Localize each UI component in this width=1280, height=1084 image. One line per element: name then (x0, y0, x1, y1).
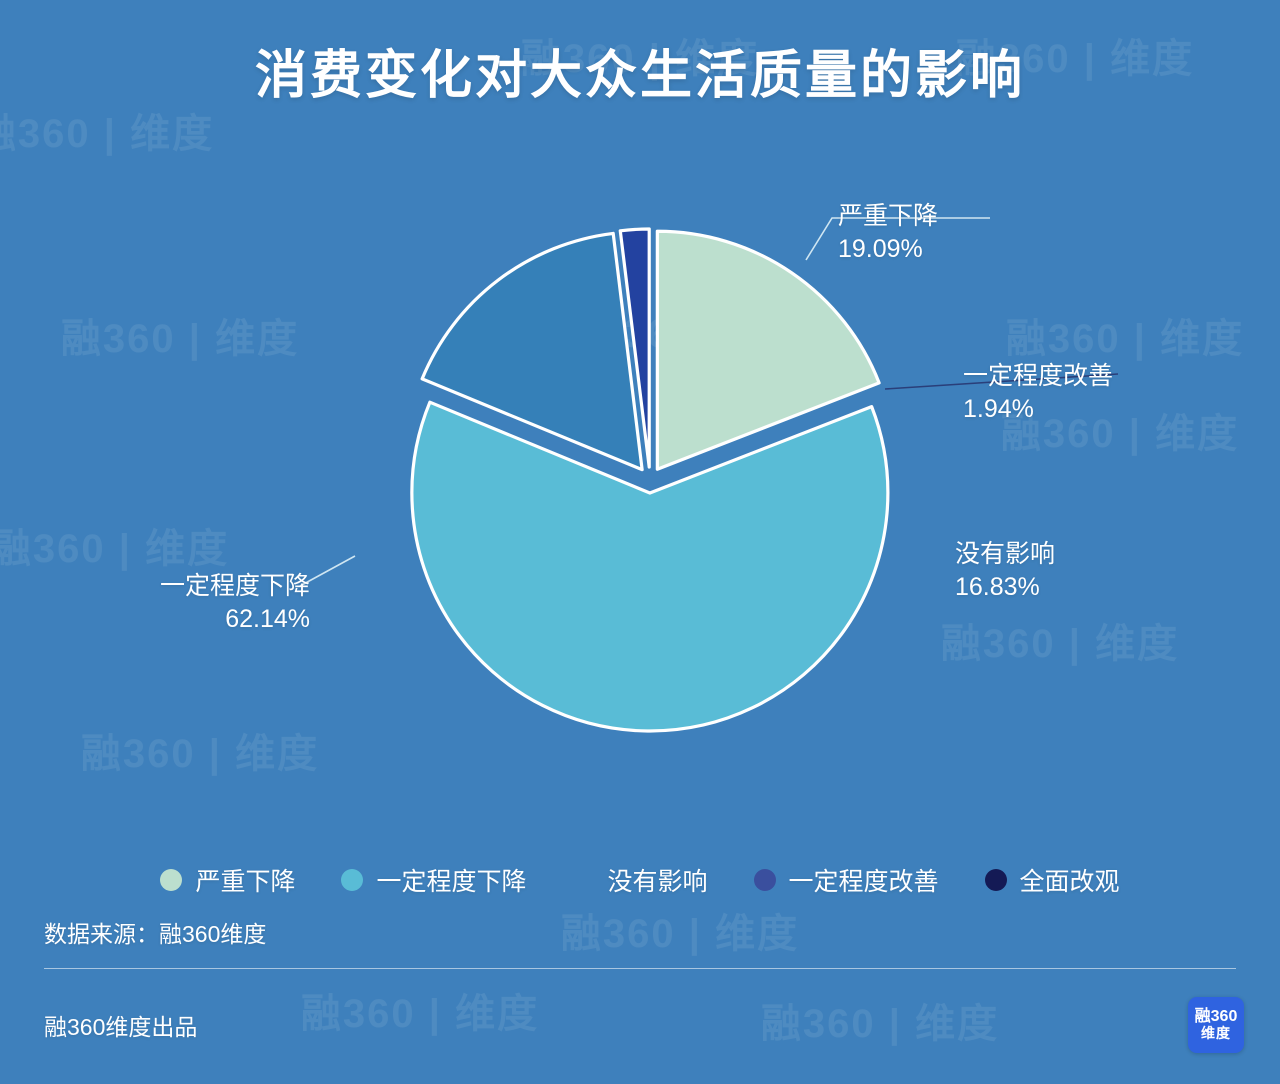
legend-color-dot (572, 869, 594, 891)
legend-color-dot (985, 869, 1007, 891)
legend-color-dot (160, 869, 182, 891)
pie-slice-group (412, 229, 888, 731)
chart-legend: 严重下降一定程度下降没有影响一定程度改善全面改观 (0, 852, 1280, 908)
slice-label-value: 19.09% (838, 233, 938, 266)
legend-item-全面改观[interactable]: 全面改观 (985, 862, 1120, 898)
page-title: 消费变化对大众生活质量的影响 (255, 33, 1025, 108)
legend-item-label: 一定程度改善 (789, 862, 939, 898)
slice-label-value: 1.94% (963, 393, 1113, 426)
legend-item-label: 没有影响 (607, 862, 707, 898)
legend-item-严重下降[interactable]: 严重下降 (160, 862, 295, 898)
legend-color-dot (341, 869, 363, 891)
producer-text: 融360维度出品 (44, 1008, 197, 1042)
brand-logo-line-2: 维度 (1201, 1026, 1231, 1041)
footer-row: 融360维度出品 融360 维度 (44, 985, 1244, 1065)
slice-label-name: 一定程度改善 (963, 360, 1113, 393)
legend-item-没有影响[interactable]: 没有影响 (572, 862, 707, 898)
legend-item-label: 严重下降 (195, 862, 295, 898)
brand-logo-badge: 融360 维度 (1188, 997, 1244, 1053)
slice-label-value: 62.14% (160, 603, 310, 636)
pie-chart-svg (0, 140, 1280, 830)
legend-color-dot (754, 869, 776, 891)
slice-label-value: 16.83% (955, 571, 1055, 604)
legend-item-一定程度改善[interactable]: 一定程度改善 (754, 862, 939, 898)
legend-item-label: 全面改观 (1020, 862, 1120, 898)
legend-item-label: 一定程度下降 (376, 862, 526, 898)
slice-label-name: 一定程度下降 (160, 570, 310, 603)
title-bar: 消费变化对大众生活质量的影响 (0, 0, 1280, 140)
pie-chart: 严重下降 19.09% 一定程度改善 1.94% 没有影响 16.83% 一定程… (0, 140, 1280, 830)
data-source-text: 数据来源：融360维度 (44, 921, 266, 947)
slice-label-name: 没有影响 (955, 538, 1055, 571)
footer-divider (44, 968, 1236, 969)
legend-item-一定程度下降[interactable]: 一定程度下降 (341, 862, 526, 898)
watermark-text: 融360 | 维度 (561, 901, 799, 959)
slice-label-name: 严重下降 (838, 200, 938, 233)
source-row: 数据来源：融360维度 (44, 915, 266, 949)
slice-label-严重下降: 严重下降 19.09% (838, 200, 938, 266)
slice-label-一定程度改善: 一定程度改善 1.94% (963, 360, 1113, 426)
brand-logo-line-1: 融360 (1195, 1009, 1238, 1026)
slice-label-一定程度下降: 一定程度下降 62.14% (160, 570, 310, 636)
slice-label-没有影响: 没有影响 16.83% (955, 538, 1055, 604)
